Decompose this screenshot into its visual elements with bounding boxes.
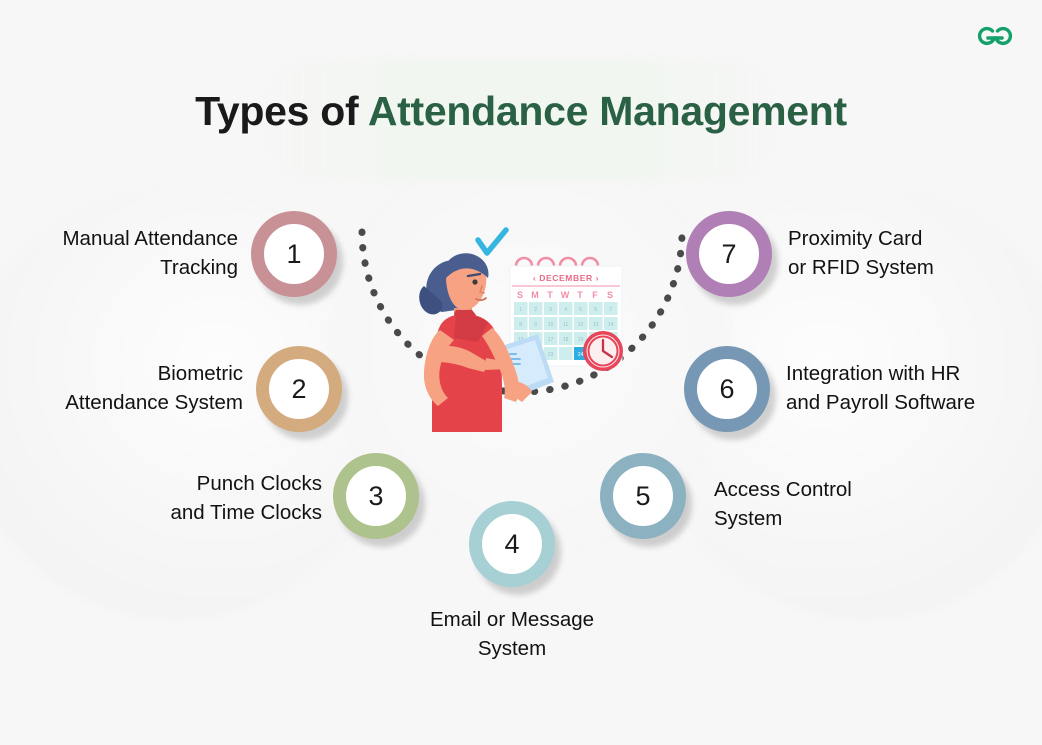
item-label-3: Punch Clocks and Time Clocks xyxy=(100,469,322,527)
svg-text:‹ DECEMBER ›: ‹ DECEMBER › xyxy=(533,273,599,283)
node-circle-7[interactable]: 7 xyxy=(686,211,772,297)
svg-text:T: T xyxy=(577,290,583,300)
geeksforgeeks-logo-icon xyxy=(972,18,1018,52)
illustration-woman-with-tablet-and-calendar: ‹ DECEMBER › SMT WTF S xyxy=(410,222,642,454)
svg-text:24: 24 xyxy=(578,352,584,358)
svg-text:2: 2 xyxy=(534,307,537,313)
svg-text:M: M xyxy=(531,290,539,300)
svg-text:18: 18 xyxy=(563,337,569,343)
node-circle-4[interactable]: 4 xyxy=(469,501,555,587)
svg-text:8: 8 xyxy=(519,322,522,328)
node-circle-6[interactable]: 6 xyxy=(684,346,770,432)
svg-text:9: 9 xyxy=(534,322,537,328)
node-number-3: 3 xyxy=(368,481,383,512)
svg-text:23: 23 xyxy=(548,352,554,358)
page-title: Types of Attendance Management xyxy=(0,88,1042,135)
svg-text:14: 14 xyxy=(608,322,614,328)
svg-text:17: 17 xyxy=(548,337,554,343)
item-label-1: Manual Attendance Tracking xyxy=(20,224,238,282)
node-circle-1[interactable]: 1 xyxy=(251,211,337,297)
item-label-6: Integration with HR and Payroll Software xyxy=(786,359,1022,417)
svg-text:6: 6 xyxy=(594,307,597,313)
clock-icon xyxy=(583,331,623,371)
node-circle-5[interactable]: 5 xyxy=(600,453,686,539)
node-circle-2[interactable]: 2 xyxy=(256,346,342,432)
page-title-plain: Types of xyxy=(195,88,368,134)
svg-text:T: T xyxy=(547,290,553,300)
svg-text:13: 13 xyxy=(593,322,599,328)
svg-text:11: 11 xyxy=(563,322,568,328)
item-label-5: Access Control System xyxy=(714,475,944,533)
infographic-canvas: Types of Attendance Management ‹ D xyxy=(0,0,1042,745)
node-number-5: 5 xyxy=(635,481,650,512)
svg-text:19: 19 xyxy=(578,337,584,343)
node-number-4: 4 xyxy=(504,529,519,560)
svg-text:10: 10 xyxy=(548,322,554,328)
page-title-accent: Attendance Management xyxy=(368,88,847,134)
checkmark-icon xyxy=(478,230,506,253)
item-label-7: Proximity Card or RFID System xyxy=(788,224,1018,282)
svg-text:7: 7 xyxy=(609,307,612,313)
svg-text:4: 4 xyxy=(564,307,567,313)
svg-text:W: W xyxy=(561,290,570,300)
svg-text:F: F xyxy=(592,290,598,300)
svg-text:1: 1 xyxy=(519,307,522,313)
node-number-6: 6 xyxy=(719,374,734,405)
item-label-4: Email or Message System xyxy=(392,605,632,663)
item-label-2: Biometric Attendance System xyxy=(20,359,243,417)
svg-text:5: 5 xyxy=(579,307,582,313)
node-number-2: 2 xyxy=(291,374,306,405)
node-circle-3[interactable]: 3 xyxy=(333,453,419,539)
svg-text:3: 3 xyxy=(549,307,552,313)
svg-text:S: S xyxy=(517,290,523,300)
svg-text:12: 12 xyxy=(578,322,584,328)
node-number-1: 1 xyxy=(286,239,301,270)
node-number-7: 7 xyxy=(721,239,736,270)
svg-text:S: S xyxy=(607,290,613,300)
